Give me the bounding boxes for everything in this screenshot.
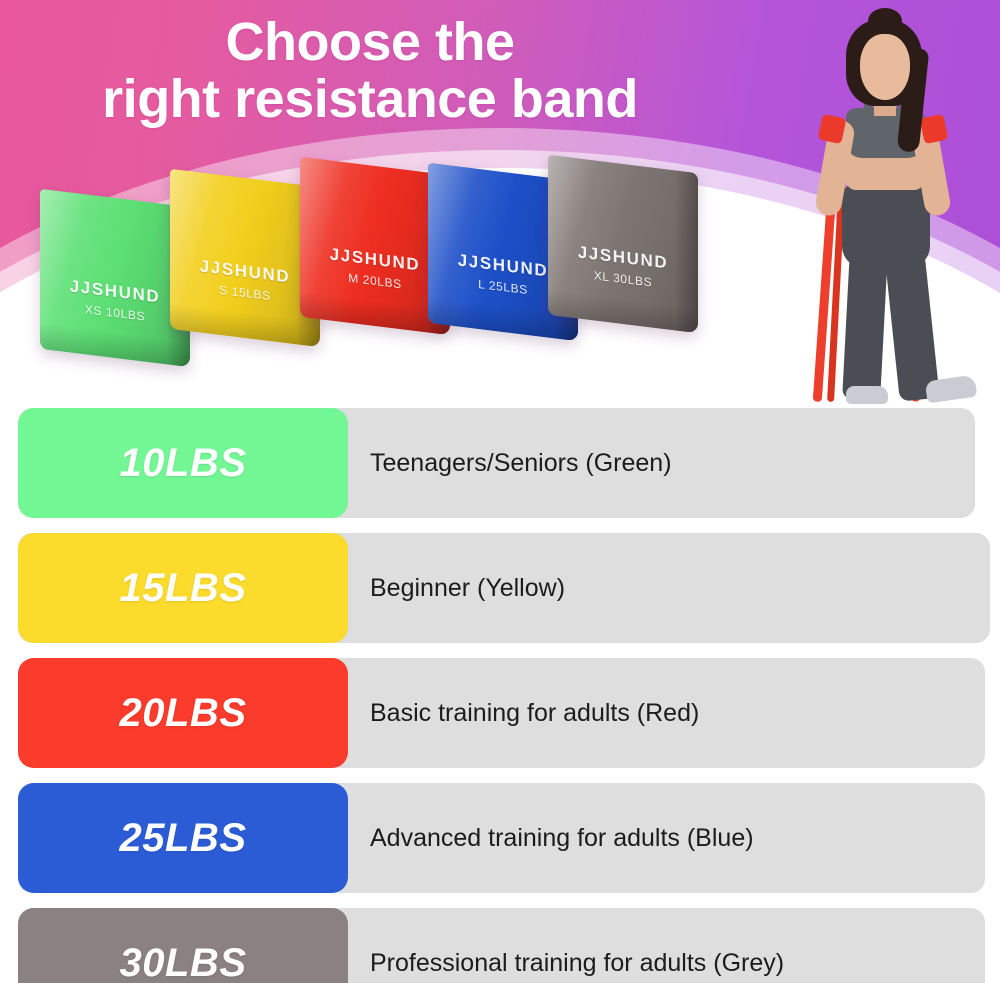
model-face [860, 34, 910, 100]
weight-chip-30lbs[interactable]: 30LBS [18, 908, 348, 983]
legend-row-description: Professional training for adults (Grey) [370, 908, 784, 983]
weight-chip-15lbs[interactable]: 15LBS [18, 533, 348, 643]
legend-row-description: Advanced training for adults (Blue) [370, 783, 754, 893]
weight-chip-label: 20LBS [120, 691, 247, 736]
resistance-band-infographic: Choose the right resistance band JJSHUND… [0, 0, 1000, 983]
weight-chip-label: 15LBS [120, 566, 247, 611]
page-title-line-2: right resistance band [0, 71, 740, 128]
page-title-line-1: Choose the [225, 12, 514, 72]
weight-legend-list: 10LBS Teenagers/Seniors (Green) 15LBS Be… [0, 408, 1000, 983]
tube-handle-right [920, 114, 949, 144]
weight-chip-label: 25LBS [120, 816, 247, 861]
product-band-grey: JJSHUND XL 30LBS [548, 155, 698, 333]
model-leggings [842, 182, 930, 268]
legend-row-description: Teenagers/Seniors (Green) [370, 408, 672, 518]
product-band-row: JJSHUND XS 10LBS JJSHUND S 15LBS JJSHUND… [0, 150, 760, 380]
legend-row-25lbs: 25LBS Advanced training for adults (Blue… [0, 783, 1000, 893]
product-band-green: JJSHUND XS 10LBS [40, 189, 190, 367]
legend-row-10lbs: 10LBS Teenagers/Seniors (Green) [0, 408, 1000, 518]
legend-row-30lbs: 30LBS Professional training for adults (… [0, 908, 1000, 983]
model-shoe-left [846, 386, 888, 404]
weight-chip-10lbs[interactable]: 10LBS [18, 408, 348, 518]
weight-chip-25lbs[interactable]: 25LBS [18, 783, 348, 893]
page-title: Choose the right resistance band [0, 14, 740, 128]
model-hair-bun [868, 8, 902, 34]
weight-chip-label: 10LBS [120, 441, 247, 486]
weight-chip-label: 30LBS [120, 941, 247, 983]
model-leg-left [842, 249, 888, 401]
legend-row-20lbs: 20LBS Basic training for adults (Red) [0, 658, 1000, 768]
legend-row-15lbs: 15LBS Beginner (Yellow) [0, 533, 1000, 643]
legend-row-description: Beginner (Yellow) [370, 533, 565, 643]
model-photo [750, 0, 990, 410]
weight-chip-20lbs[interactable]: 20LBS [18, 658, 348, 768]
product-band-yellow: JJSHUND S 15LBS [170, 169, 320, 347]
legend-row-description: Basic training for adults (Red) [370, 658, 699, 768]
hero-banner: Choose the right resistance band JJSHUND… [0, 0, 1000, 410]
model-leg-right [884, 248, 939, 401]
